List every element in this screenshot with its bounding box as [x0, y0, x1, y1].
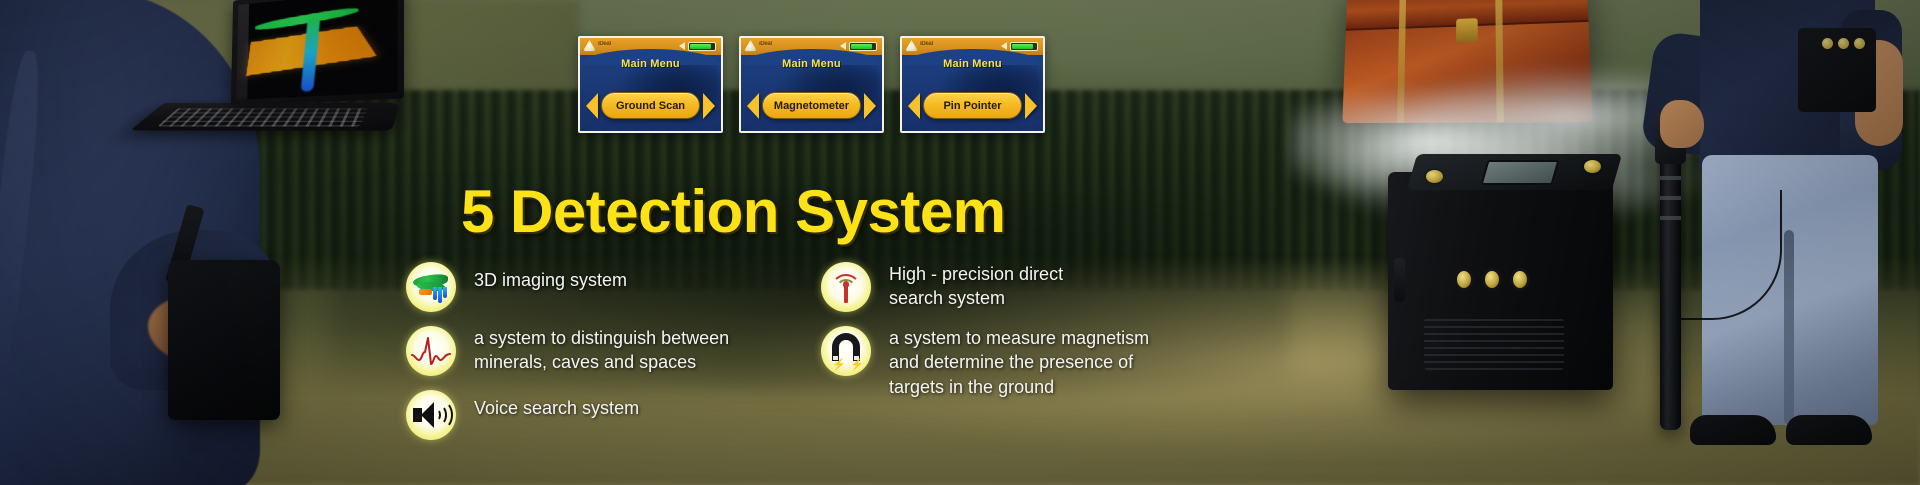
- device-screen-row: iDeal Main Menu Ground Scan iDeal M: [578, 36, 1045, 133]
- feature-label: a system to measure magnetism and determ…: [889, 326, 1149, 399]
- brand-logo-label: iDeal: [759, 41, 772, 47]
- chevron-left-icon[interactable]: [908, 93, 920, 119]
- feature-label: Voice search system: [474, 390, 639, 420]
- device-screen-magnetometer[interactable]: iDeal Main Menu Magnetometer: [739, 36, 884, 133]
- mode-selector[interactable]: Magnetometer: [747, 92, 876, 119]
- feature-item-mineral-discrimination: a system to distinguish between minerals…: [406, 326, 806, 376]
- screen-title: Main Menu: [902, 58, 1043, 70]
- mode-selector[interactable]: Pin Pointer: [908, 92, 1037, 119]
- chevron-right-icon[interactable]: [864, 93, 876, 119]
- brand-logo-icon: [905, 40, 918, 53]
- signal-target-icon: [821, 262, 871, 312]
- feature-item-3d-imaging: 3D imaging system: [406, 262, 806, 312]
- feature-item-voice-search: Voice search system: [406, 390, 806, 440]
- brand-logo-icon: [583, 40, 596, 53]
- speaker-icon: [840, 42, 846, 50]
- brand-logo-label: iDeal: [920, 41, 933, 47]
- battery-icon: [1010, 42, 1038, 51]
- chevron-left-icon[interactable]: [586, 93, 598, 119]
- mode-selector[interactable]: Ground Scan: [586, 92, 715, 119]
- magnet-icon: ⚡⚡: [821, 326, 871, 376]
- mode-button[interactable]: Magnetometer: [762, 92, 861, 119]
- feature-column-left: 3D imaging system a system to distinguis…: [406, 262, 806, 454]
- feature-item-magnetometer: ⚡⚡ a system to measure magnetism and det…: [821, 326, 1241, 399]
- chevron-left-icon[interactable]: [747, 93, 759, 119]
- pulse-wave-icon: [406, 326, 456, 376]
- mode-button[interactable]: Pin Pointer: [923, 92, 1022, 119]
- speaker-icon: [1001, 42, 1007, 50]
- device-screen-ground-scan[interactable]: iDeal Main Menu Ground Scan: [578, 36, 723, 133]
- device-screen-pin-pointer[interactable]: iDeal Main Menu Pin Pointer: [900, 36, 1045, 133]
- feature-label: High - precision direct search system: [889, 262, 1063, 311]
- screen-title: Main Menu: [741, 58, 882, 70]
- page-title: 5 Detection System: [461, 177, 1006, 246]
- chevron-right-icon[interactable]: [1025, 93, 1037, 119]
- battery-icon: [849, 42, 877, 51]
- chevron-right-icon[interactable]: [703, 93, 715, 119]
- 3d-terrain-icon: [406, 262, 456, 312]
- speaker-icon: [679, 42, 685, 50]
- feature-column-right: High - precision direct search system ⚡⚡…: [821, 262, 1241, 413]
- feature-item-direct-search: High - precision direct search system: [821, 262, 1241, 312]
- feature-label: a system to distinguish between minerals…: [474, 326, 729, 375]
- brand-logo-label: iDeal: [598, 41, 611, 47]
- battery-icon: [688, 42, 716, 51]
- promo-banner: iDeal Main Menu Ground Scan iDeal M: [0, 0, 1920, 485]
- screen-title: Main Menu: [580, 58, 721, 70]
- mode-button[interactable]: Ground Scan: [601, 92, 700, 119]
- speaker-icon: [406, 390, 456, 440]
- feature-label: 3D imaging system: [474, 262, 627, 292]
- brand-logo-icon: [744, 40, 757, 53]
